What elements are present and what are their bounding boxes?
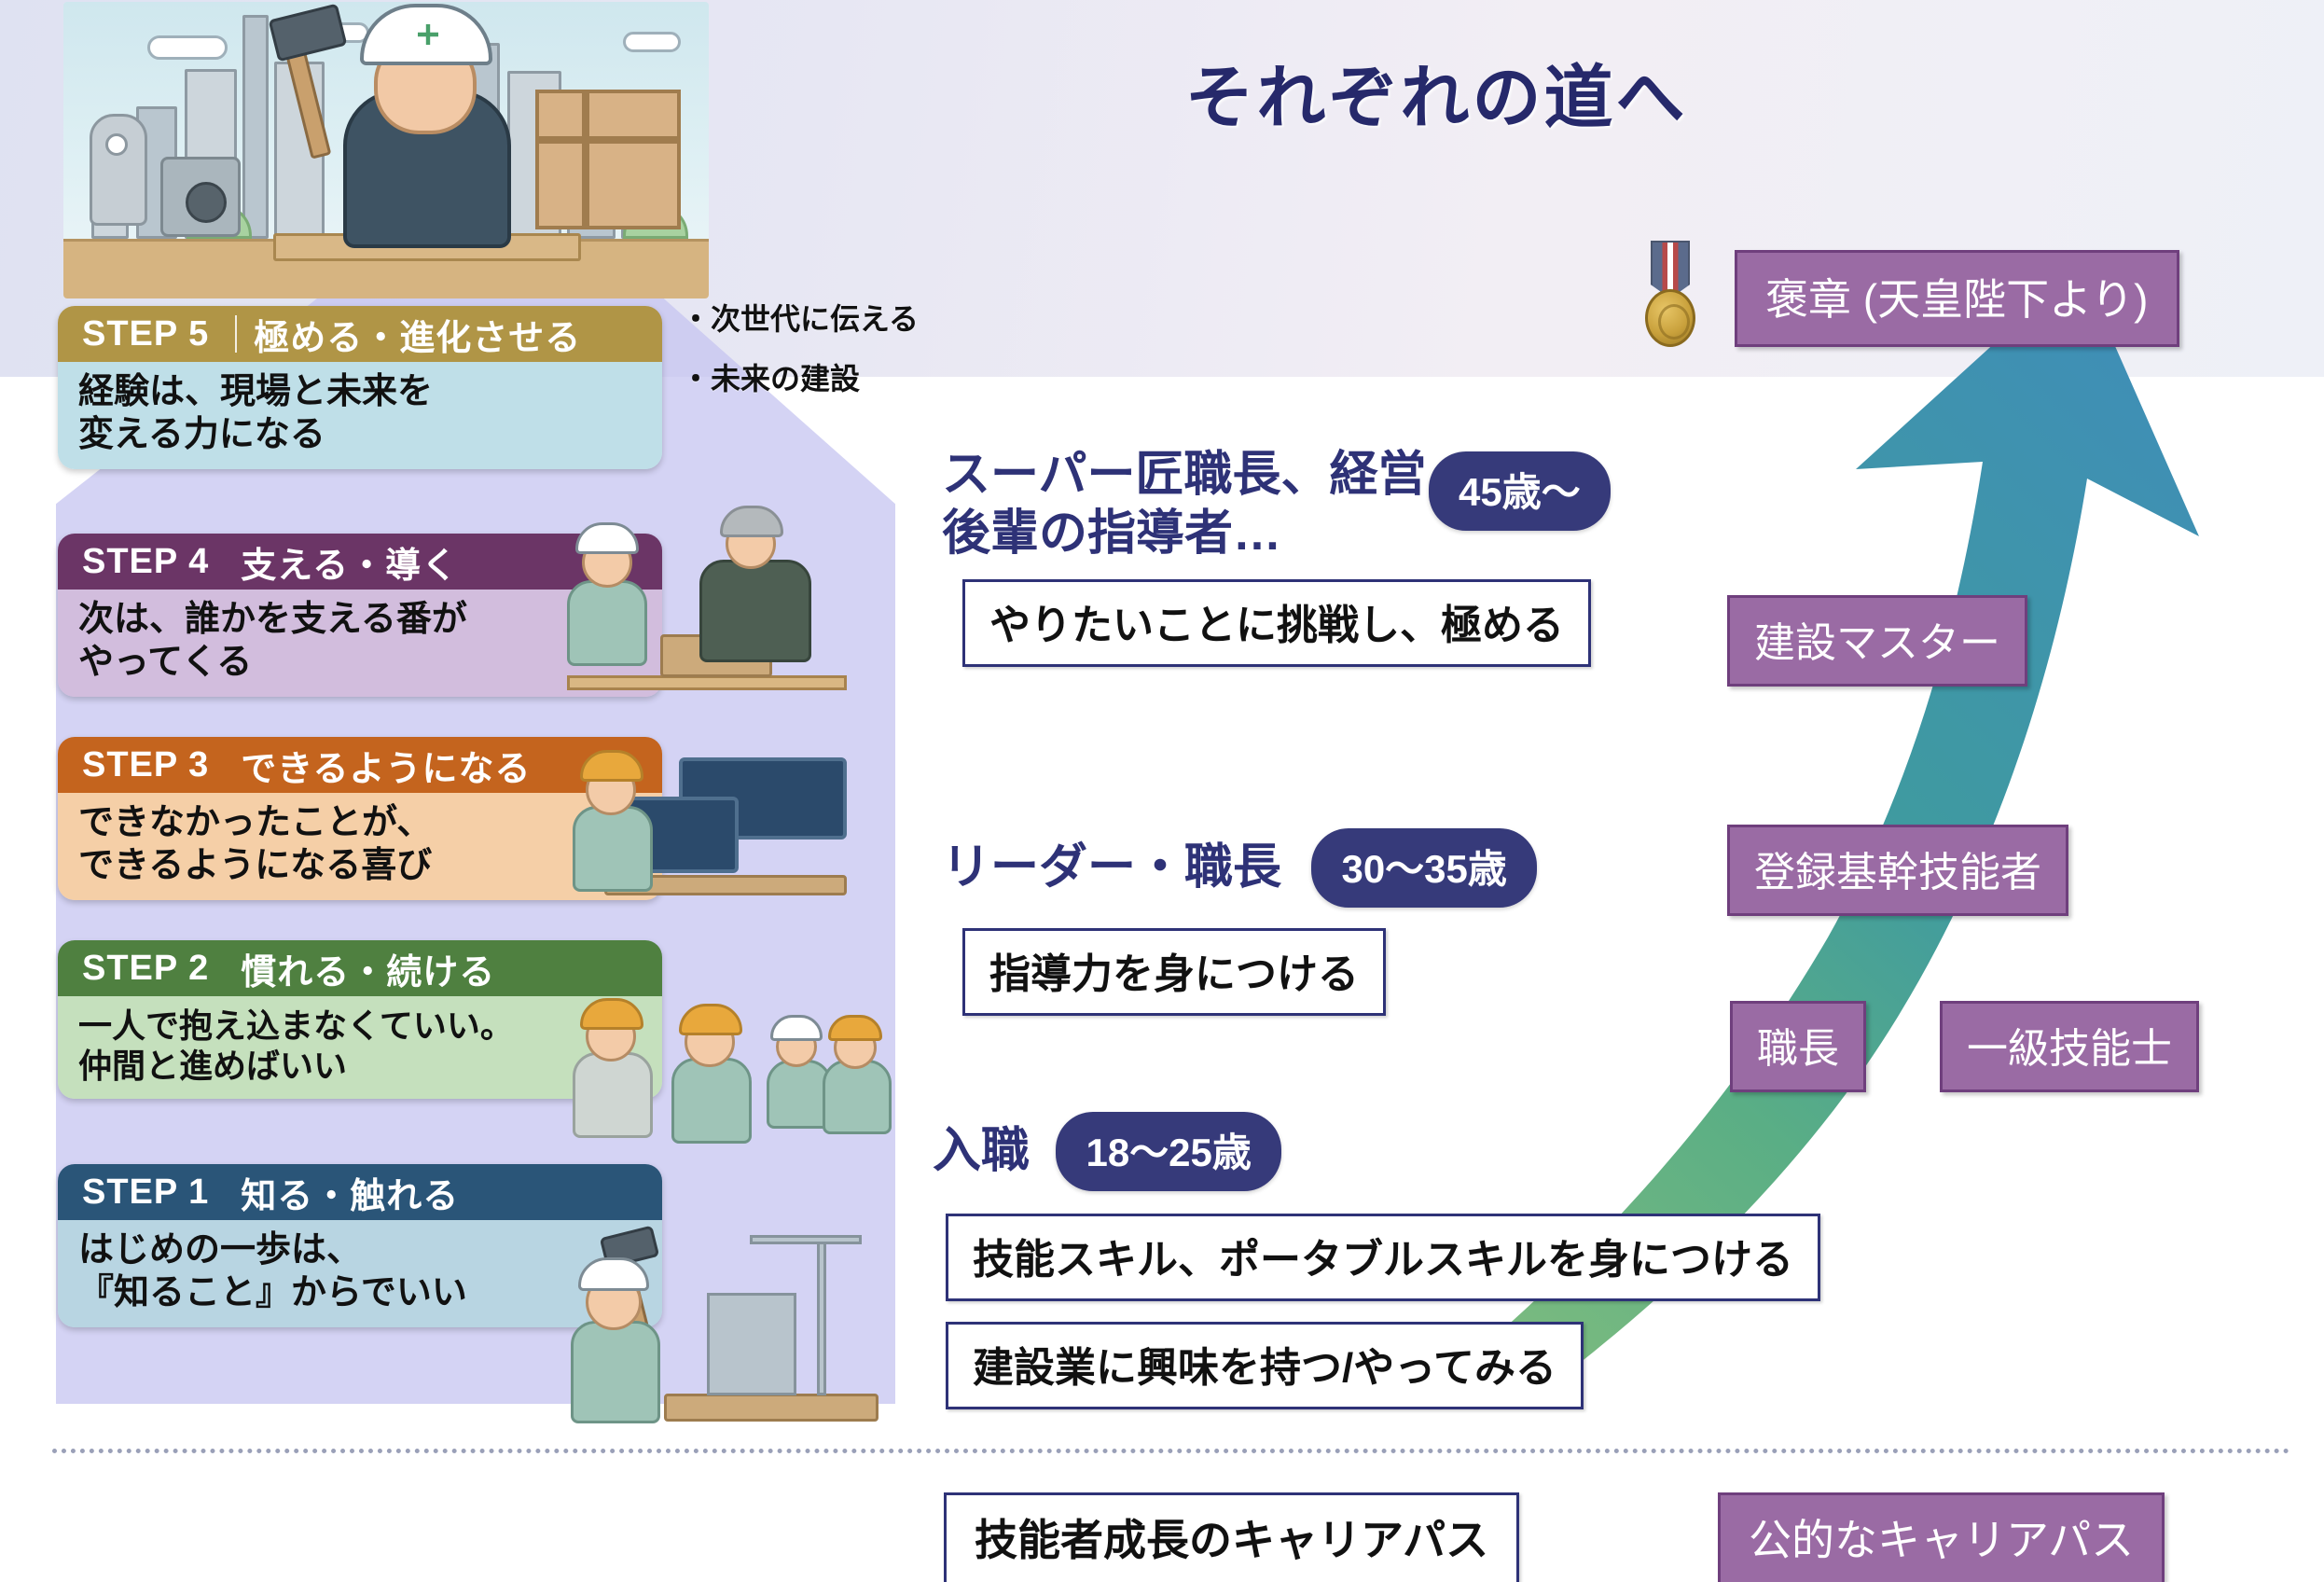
hammer-head-icon [269,3,348,62]
beginner-body [571,1321,660,1423]
site-base-icon [664,1394,878,1422]
qualification-badge-hosho[interactable]: 褒章 (天皇陛下より) [1735,250,2179,347]
step-number-5: STEP 5 [82,314,209,354]
slide-canvas: それぞれの道へ STEP 5 極める・進化させる [0,0,2324,1582]
step-number-4: STEP 4 [82,542,209,582]
cad-operator-illustration [567,718,875,905]
legend-public-career-path: 公的なキャリアパス [1718,1492,2165,1582]
stage-super-takumi: スーパー匠職長、経営 後輩の指導者… 45歳〜 やりたいことに挑戦し、極める [942,446,1591,667]
worker-body [573,1052,653,1138]
purple-arrow-bullets: ・次世代に伝える ・未来の建設 [681,289,919,409]
age-pill-leader: 30〜35歳 [1311,828,1536,908]
step-card-5[interactable]: STEP 5 極める・進化させる 経験は、現場と未来を 変える力になる [58,306,662,469]
helmet-icon [828,1015,882,1041]
helmet-icon [679,1004,742,1035]
cloud-icon [147,35,228,60]
arrow-bullet-1: ・次世代に伝える [681,289,919,349]
skill-box-super-1: やりたいことに挑戦し、極める [962,579,1591,667]
medal-disc-icon [1645,289,1695,347]
building-under-construction-icon [707,1293,796,1395]
age-pill-super: 45歳〜 [1429,451,1611,531]
helmet-icon [770,1015,823,1041]
step-number-2: STEP 2 [82,949,209,989]
operator-body [573,806,653,892]
camera-icon [160,157,241,237]
gray-hair-icon [720,506,783,537]
plank-icon [567,675,847,690]
beginner-worker-illustration [567,1185,903,1427]
medal-icon [1639,241,1701,351]
young-worker-body [567,580,647,666]
step-divider-icon [235,315,237,353]
stage-leader: リーダー・職長 30〜35歳 指導力を身につける [942,828,1537,1016]
legend-private-career-path: 技能者成長のキャリアパス [944,1492,1519,1582]
building-icon [242,15,269,239]
worker-body [823,1060,892,1134]
stage-title-entry: 入職 [933,1122,1030,1181]
skill-box-leader-1: 指導力を身につける [962,928,1386,1016]
legend-divider [52,1449,2290,1453]
skill-box-entry-2: 建設業に興味を持つ/やってみる [946,1322,1584,1409]
skill-box-entry-1: 技能スキル、ポータブルスキルを身につける [946,1214,1820,1301]
step-number-3: STEP 3 [82,745,209,785]
qualification-badge-ikkyu[interactable]: 一級技能士 [1940,1001,2199,1092]
step-heading-5: 極める・進化させる [254,309,581,360]
qualification-badge-master[interactable]: 建設マスター [1727,595,2027,687]
arrow-bullet-2: ・未来の建設 [681,349,919,409]
team-of-workers-illustration [569,961,895,1147]
age-pill-entry: 18〜25歳 [1056,1112,1280,1191]
qualification-badge-kikan[interactable]: 登録基幹技能者 [1727,825,2068,916]
worker-body [671,1058,752,1144]
qualification-badge-shokucho[interactable]: 職長 [1730,1001,1866,1092]
helmet-icon [580,750,643,782]
master-teaching-illustration [560,504,867,700]
step-number-1: STEP 1 [82,1173,209,1213]
craftsman-city-illustration [63,2,709,298]
stage-entry: 入職 18〜25歳 技能スキル、ポータブルスキルを身につける 建設業に興味を持つ… [933,1112,1820,1409]
wooden-crate-icon [535,90,681,229]
stage-title-super: スーパー匠職長、経営 後輩の指導者… [942,446,1426,564]
crane-mast-icon [817,1237,826,1395]
cloud-icon [623,32,681,52]
helmet-icon [578,1257,649,1291]
step-body-5: 経験は、現場と未来を 変える力になる [58,362,662,469]
helmet-icon [580,998,643,1030]
step-heading-4: 支える・導く [241,536,458,588]
step-header-5: STEP 5 極める・進化させる [58,306,662,362]
page-title: それぞれの道へ [1082,42,1791,142]
master-body [699,560,811,662]
step-heading-2: 慣れる・続ける [241,943,495,994]
crane-boom-icon [750,1235,862,1244]
step-heading-1: 知る・触れる [241,1167,459,1218]
stage-title-leader: リーダー・職長 [942,839,1281,897]
step-heading-3: できるようになる [241,740,531,791]
robot-arm-icon [90,114,147,226]
helmet-icon [360,4,492,65]
helmet-icon [575,522,639,554]
